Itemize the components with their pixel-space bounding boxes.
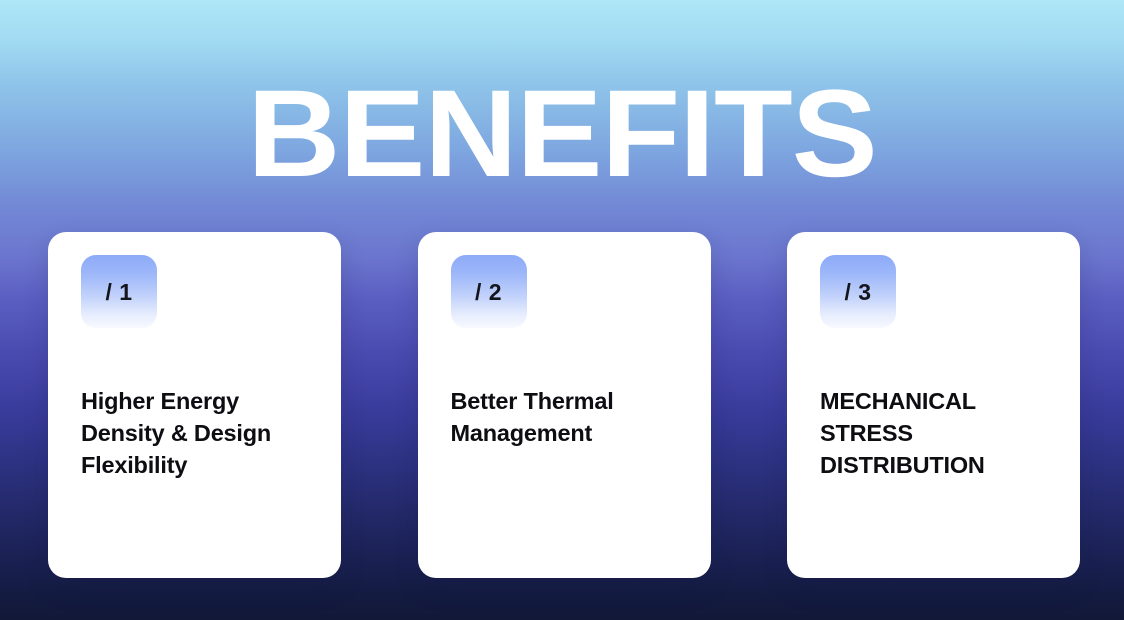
benefit-badge-2: / 2 — [451, 255, 527, 328]
benefit-card-2[interactable]: / 2 Better Thermal Management — [418, 232, 711, 578]
benefit-badge-label-3: / 3 — [844, 281, 871, 304]
benefit-heading-2: Better Thermal Management — [451, 385, 711, 449]
benefits-slide: BENEFITS / 1 Higher Energy Density & Des… — [0, 0, 1124, 620]
benefit-badge-1: / 1 — [81, 255, 157, 328]
page-title: BENEFITS — [0, 72, 1124, 196]
benefit-badge-label-2: / 2 — [475, 281, 502, 304]
benefit-heading-1: Higher Energy Density & Design Flexibili… — [81, 385, 341, 481]
benefit-card-1[interactable]: / 1 Higher Energy Density & Design Flexi… — [48, 232, 341, 578]
benefit-badge-label-1: / 1 — [105, 281, 132, 304]
benefit-heading-3: MECHANICAL STRESS DISTRIBUTION — [820, 385, 1080, 481]
benefit-badge-3: / 3 — [820, 255, 896, 328]
benefit-card-3[interactable]: / 3 MECHANICAL STRESS DISTRIBUTION — [787, 232, 1080, 578]
benefit-cards-row: / 1 Higher Energy Density & Design Flexi… — [48, 232, 1080, 578]
